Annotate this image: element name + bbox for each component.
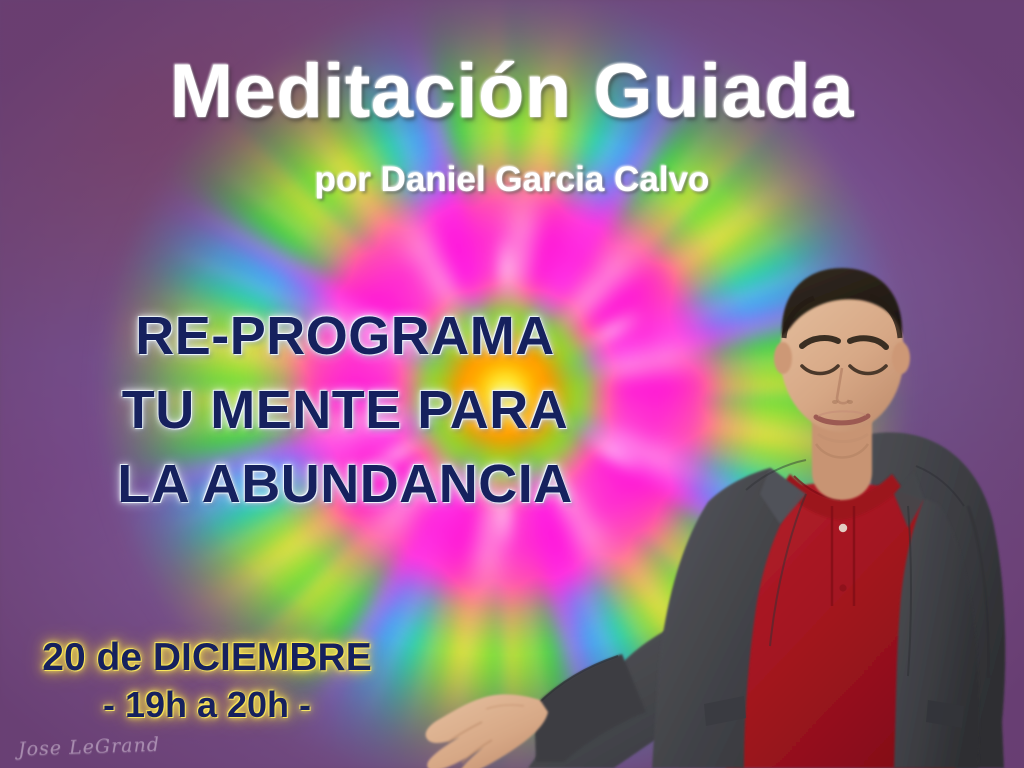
schedule-block: 20 de DICIEMBRE - 19h a 20h - [12, 634, 402, 727]
head [774, 268, 910, 442]
event-time: - 19h a 20h - [12, 682, 402, 727]
author-subtitle: por Daniel Garcia Calvo [0, 162, 1024, 197]
poster-canvas: Meditación Guiada por Daniel Garcia Calv… [0, 0, 1024, 768]
polo-button-bottom [839, 584, 846, 591]
headline-line-2: TU MENTE PARA [0, 374, 690, 448]
polo-button-top [839, 524, 847, 532]
open-hand [426, 694, 548, 768]
event-date: 20 de DICIEMBRE [12, 634, 402, 682]
page-title: Meditación Guiada [0, 54, 1024, 130]
headline-block: RE-PROGRAMA TU MENTE PARA LA ABUNDANCIA [0, 300, 690, 522]
headline-line-1: RE-PROGRAMA [0, 300, 690, 374]
headline-line-3: LA ABUNDANCIA [0, 448, 690, 522]
